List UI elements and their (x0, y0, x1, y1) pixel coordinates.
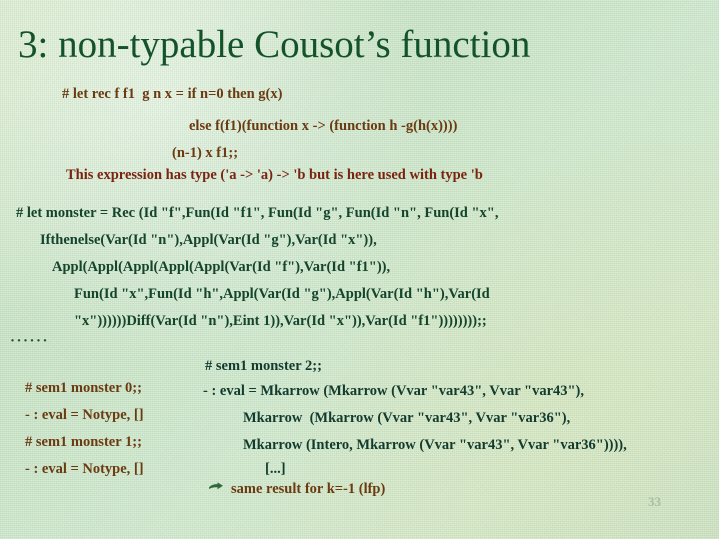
page-title: 3: non-typable Cousot’s function (18, 22, 708, 68)
code-line: - : eval = Notype, [] (25, 461, 144, 478)
code-line: # let monster = Rec (Id "f",Fun(Id "f1",… (16, 205, 498, 222)
type-error-message: This expression has type ('a -> 'a) -> '… (66, 167, 483, 184)
code-line: - : eval = Notype, [] (25, 407, 144, 424)
code-line: [...] (265, 461, 286, 478)
code-line: Mkarrow (Mkarrow (Vvar "var43", Vvar "va… (243, 410, 570, 427)
code-line: # sem1 monster 2;; (205, 358, 322, 375)
code-line: Fun(Id "x",Fun(Id "h",Appl(Var(Id "g"),A… (74, 286, 490, 303)
code-line: Appl(Appl(Appl(Appl(Appl(Var(Id "f"),Var… (52, 259, 390, 276)
slide-canvas: 3: non-typable Cousot’s function # let r… (0, 0, 719, 539)
code-line: Mkarrow (Intero, Mkarrow (Vvar "var43", … (243, 437, 627, 454)
code-line: # sem1 monster 1;; (25, 434, 142, 451)
code-line: "x"))))))Diff(Var(Id "n"),Eint 1)),Var(I… (74, 313, 487, 330)
code-line: # let rec f f1 g n x = if n=0 then g(x) (62, 86, 282, 103)
ellipsis-marker: ······ (10, 333, 49, 350)
code-line: Ifthenelse(Var(Id "n"),Appl(Var(Id "g"),… (40, 232, 377, 249)
code-line: else f(f1)(function x -> (function h -g(… (189, 118, 457, 135)
footnote-text: same result for k=-1 (lfp) (231, 481, 385, 498)
pointing-hand-bullet-icon (208, 481, 224, 492)
code-line: (n-1) x f1;; (172, 145, 238, 162)
code-line: # sem1 monster 0;; (25, 380, 142, 397)
code-line: - : eval = Mkarrow (Mkarrow (Vvar "var43… (203, 383, 584, 400)
page-number: 33 (648, 494, 661, 510)
